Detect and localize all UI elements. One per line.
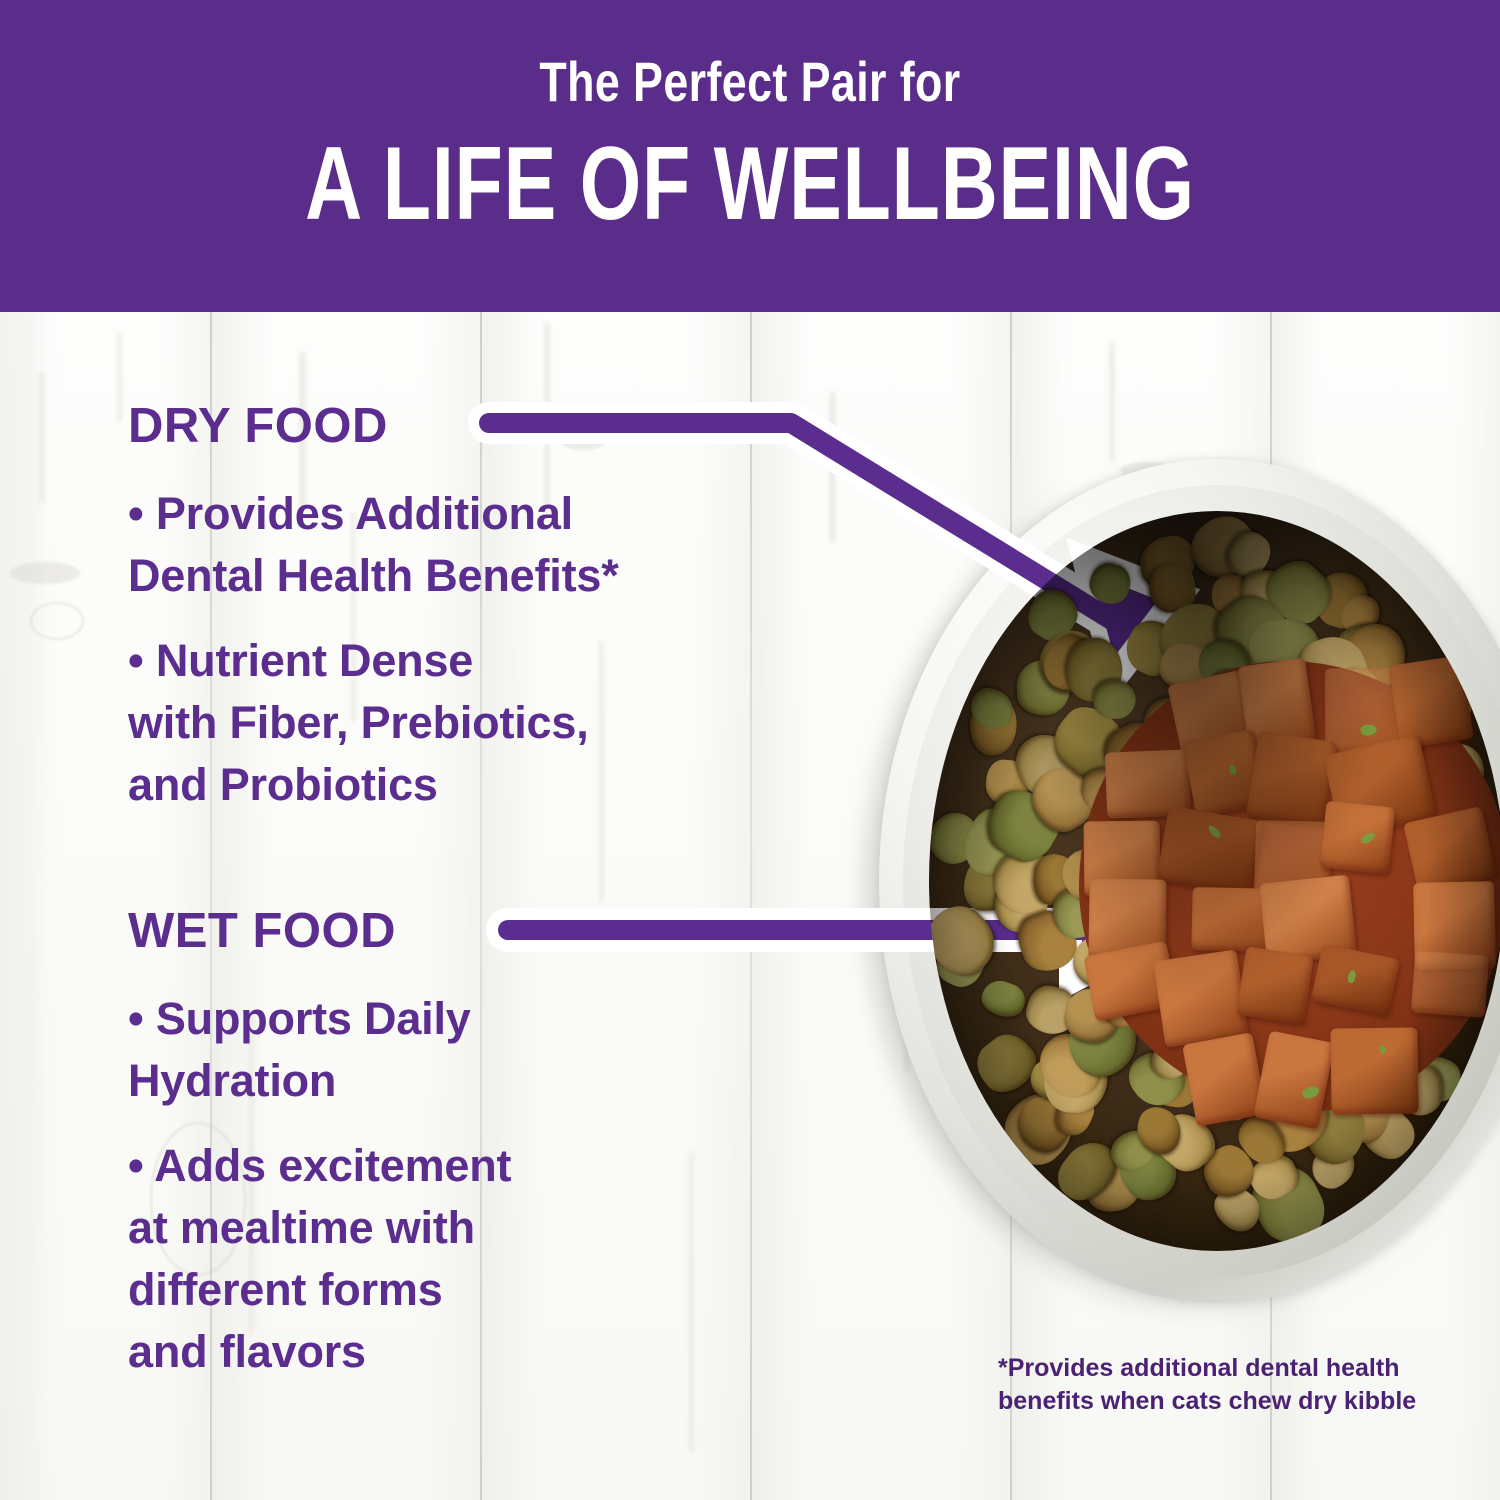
wet-food-chunk [1388,655,1474,749]
dry-food-bullet-2-line-1: • Nutrient Dense [128,630,473,692]
wet-food-heading: WET FOOD [128,905,396,957]
wet-food-chunk [1411,950,1489,1017]
wet-food-chunk [1330,1027,1418,1114]
wet-food-chunk [1153,949,1249,1047]
wet-food-bullet-2-line-1: • Adds excitement [128,1135,511,1197]
dry-food-bullet-2-line-3: and Probiotics [128,754,438,816]
dry-food-bullet-1-line-1: • Provides Additional [128,483,573,545]
wet-food-bullet-2-line-3: different forms [128,1259,443,1321]
footnote-line-1: *Provides additional dental health [998,1352,1399,1385]
footnote-line-2: benefits when cats chew dry kibble [998,1385,1416,1418]
wet-food-chunk [1319,800,1395,874]
wet-food-chunk [1236,946,1314,1024]
dry-food-heading: DRY FOOD [128,400,388,452]
dry-food-bullet-1-line-2: Dental Health Benefits* [128,545,619,607]
promo-infographic: The Perfect Pair for A LIFE OF WELLBEING [0,0,1500,1500]
wet-food-bullet-1-line-1: • Supports Daily [128,988,471,1050]
dry-food-bullet-2-line-2: with Fiber, Prebiotics, [128,692,589,754]
wet-food-bullet-1-line-2: Hydration [128,1050,336,1112]
wet-food-chunk [1246,731,1337,828]
wet-food-bullet-2-line-2: at mealtime with [128,1197,475,1259]
wet-food-bullet-2-line-4: and flavors [128,1321,366,1383]
